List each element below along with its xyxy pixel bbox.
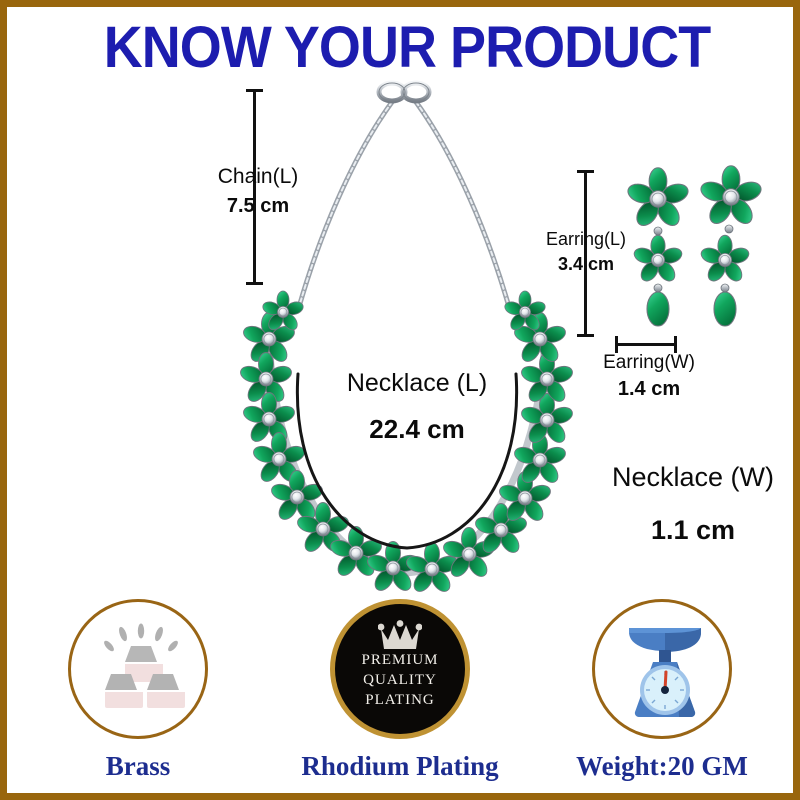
dimension-necklace-length: Necklace (L) 22.4 cm	[307, 369, 527, 445]
weighing-scale-icon	[595, 602, 735, 742]
plating-badge-text: PREMIUM QUALITY PLATING	[335, 650, 465, 710]
feature-badge-row: Brass PREMIUM QUALITY PLATING Rhodium Pl…	[7, 599, 793, 782]
clasp-icon	[379, 83, 429, 101]
earring-right	[699, 166, 764, 326]
dimension-necklace-width-name: Necklace (W)	[575, 462, 800, 493]
dimension-necklace-length-value: 22.4 cm	[307, 414, 527, 445]
plating-badge-line-3: PLATING	[335, 690, 465, 710]
dimension-earring-width: Earring(W) 1.4 cm	[579, 352, 719, 401]
earring-width-rule	[615, 343, 677, 346]
infographic-page: KNOW YOUR PRODUCT	[0, 0, 800, 800]
feature-plating: PREMIUM QUALITY PLATING Rhodium Plating	[300, 599, 500, 782]
dimension-earring-width-name: Earring(W)	[579, 352, 719, 374]
plating-badge-line-2: QUALITY	[335, 670, 465, 690]
dimension-earring-length: Earring(L) 3.4 cm	[520, 229, 652, 275]
dimension-chain-length: Chain(L) 7.5 cm	[183, 165, 333, 218]
plating-badge: PREMIUM QUALITY PLATING	[330, 599, 470, 739]
weight-badge	[592, 599, 732, 739]
dimension-necklace-width-value: 1.1 cm	[575, 515, 800, 546]
dimension-chain-length-value: 7.5 cm	[183, 195, 333, 218]
material-badge	[68, 599, 208, 739]
feature-material: Brass	[38, 599, 238, 782]
gold-bars-icon	[71, 602, 211, 742]
dimension-necklace-length-name: Necklace (L)	[307, 369, 527, 398]
dimension-earring-width-value: 1.4 cm	[579, 378, 719, 401]
dimension-necklace-width: Necklace (W) 1.1 cm	[575, 462, 800, 546]
material-label: Brass	[38, 751, 238, 782]
weight-label: Weight:20 GM	[562, 751, 762, 782]
dimension-earring-length-value: 3.4 cm	[520, 254, 652, 275]
feature-weight: Weight:20 GM	[562, 599, 762, 782]
dimension-earring-length-name: Earring(L)	[520, 229, 652, 250]
crown-icon	[378, 620, 422, 650]
plating-badge-line-1: PREMIUM	[335, 650, 465, 670]
dimension-chain-length-name: Chain(L)	[183, 165, 333, 189]
plating-label: Rhodium Plating	[300, 751, 500, 782]
